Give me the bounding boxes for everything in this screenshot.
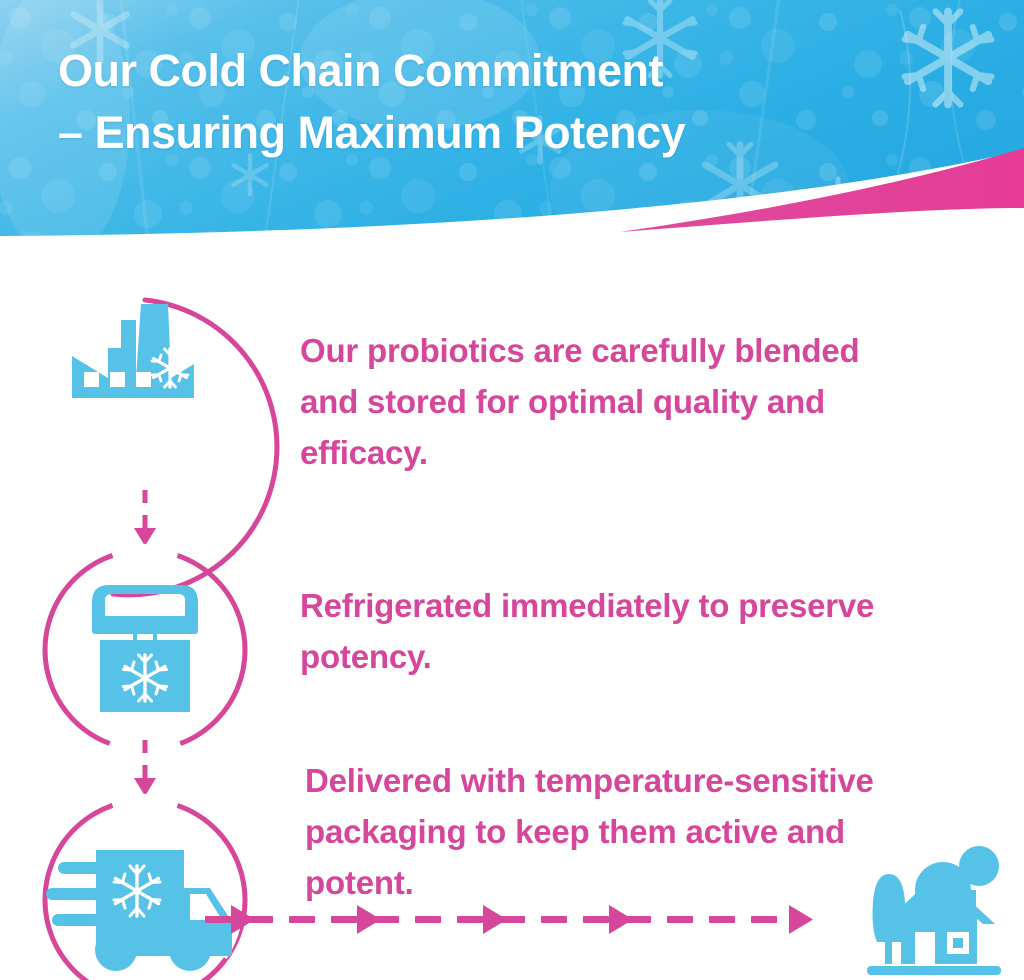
step-3-circle-gap-top — [112, 798, 178, 804]
house-with-trees-icon — [855, 838, 1015, 980]
step-3-text: Delivered with temperature-sensitive pac… — [305, 755, 905, 908]
cypress-trunk — [885, 938, 892, 964]
cold-chain-infographic: Our Cold Chain Commitment – Ensuring Max… — [0, 0, 1024, 980]
process-flow-column — [0, 250, 300, 980]
step-2-text: Refrigerated immediately to preserve pot… — [300, 580, 900, 682]
house-door-icon — [915, 932, 935, 964]
chimney-icon — [967, 890, 976, 920]
ground-line — [867, 966, 1001, 975]
process-flow-graphic — [0, 250, 300, 980]
factory-snowflake-icon — [72, 304, 194, 398]
step-2-circle-gap-top — [112, 548, 178, 554]
step-2-node[interactable] — [45, 548, 245, 750]
header-banner: Our Cold Chain Commitment – Ensuring Max… — [0, 0, 1024, 250]
dashed-right-arrow-icon — [205, 898, 830, 943]
page-title: Our Cold Chain Commitment – Ensuring Max… — [58, 40, 918, 164]
step-3-node[interactable] — [45, 798, 245, 980]
step-1-text: Our probiotics are carefully blended and… — [300, 325, 910, 478]
